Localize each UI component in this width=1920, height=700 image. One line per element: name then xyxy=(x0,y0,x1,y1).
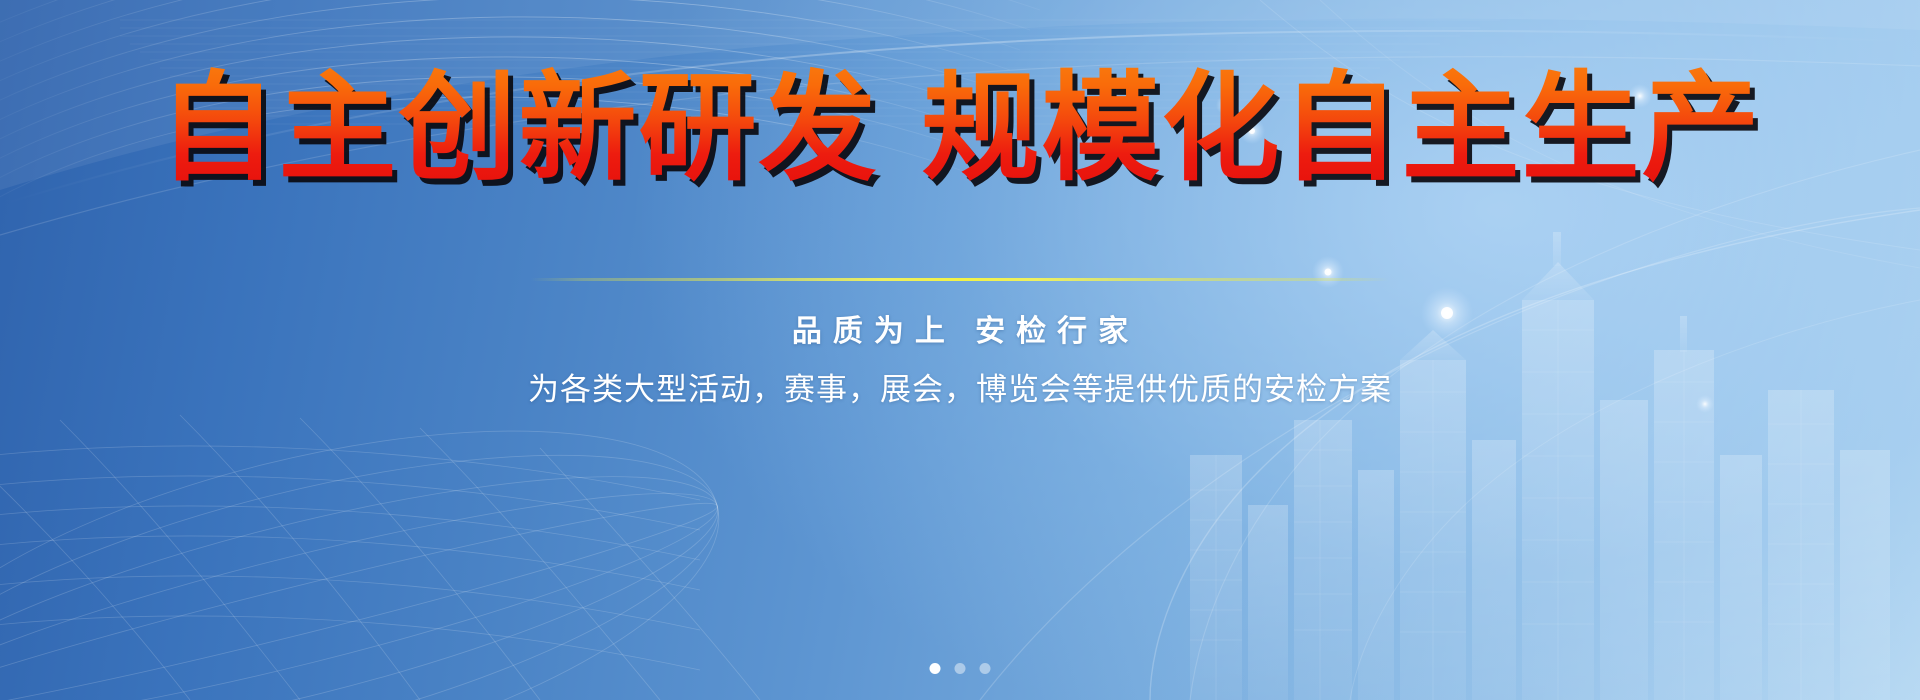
page-title: 自主创新研发 规模化自主生产 xyxy=(0,62,1920,194)
banner-content: 自主创新研发 规模化自主生产 品质为上 安检行家 为各类大型活动，赛事，展会，博… xyxy=(0,0,1920,700)
banner-description: 为各类大型活动，赛事，展会，博览会等提供优质的安检方案 xyxy=(0,364,1920,409)
carousel-indicators[interactable] xyxy=(930,663,991,674)
banner-subtitle: 品质为上 安检行家 xyxy=(0,306,1920,350)
title-divider xyxy=(531,278,1389,281)
carousel-dot-2[interactable] xyxy=(955,663,966,674)
carousel-dot-1[interactable] xyxy=(930,663,941,674)
hero-banner: 自主创新研发 规模化自主生产 品质为上 安检行家 为各类大型活动，赛事，展会，博… xyxy=(0,0,1920,700)
page-title-text: 自主创新研发 规模化自主生产 xyxy=(158,62,1761,194)
carousel-dot-3[interactable] xyxy=(980,663,991,674)
